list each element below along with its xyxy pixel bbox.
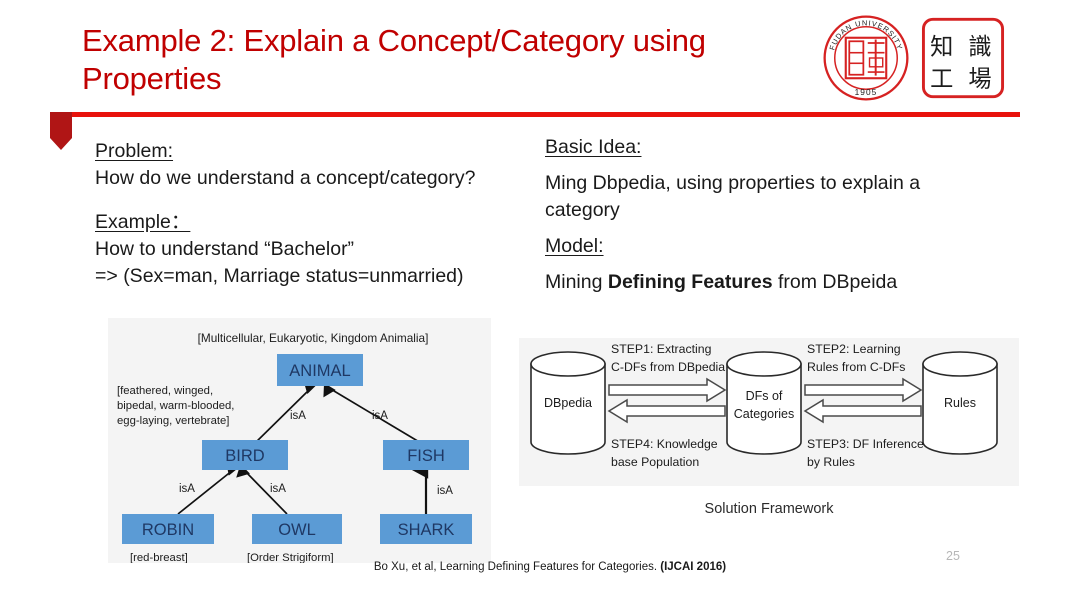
edge-label-bird-animal: isA <box>290 410 306 422</box>
robin-property-label: [red-breast] <box>130 552 188 563</box>
step3-label-line-2: by Rules <box>807 455 855 469</box>
taxonomy-diagram: [Multicellular, Eukaryotic, Kingdom Anim… <box>108 318 491 563</box>
step2-label-line-2: Rules from C-DFs <box>807 360 905 374</box>
taxonomy-node-fish: FISH <box>383 440 469 470</box>
taxonomy-node-robin: ROBIN <box>122 514 214 544</box>
left-text-column: Problem: How do we understand a concept/… <box>95 138 525 290</box>
taxonomy-node-bird: BIRD <box>202 440 288 470</box>
bird-properties-line-2: bipedal, warm-blooded, <box>117 400 234 412</box>
top-properties-label: [Multicellular, Eukaryotic, Kingdom Anim… <box>198 331 429 345</box>
edge-label-fish-animal: isA <box>372 410 388 422</box>
node-label-owl: OWL <box>278 521 316 539</box>
example-heading: Example： <box>95 209 190 236</box>
model-text-post: from DBpeida <box>773 271 898 293</box>
citation-venue-text: (IJCAI 2016) <box>660 561 726 573</box>
svg-text:FUDAN UNIVERSITY: FUDAN UNIVERSITY <box>828 18 905 51</box>
cylinder-rules: Rules <box>923 352 997 454</box>
edge-label-shark-fish: isA <box>437 485 453 497</box>
step4-label-line-2: base Population <box>611 455 699 469</box>
fudan-year-text: 1905 <box>855 87 878 97</box>
step2-label-line-1: STEP2: Learning <box>807 342 901 356</box>
model-text-bold: Defining Features <box>608 271 773 293</box>
red-banner-marker <box>50 112 72 150</box>
citation-normal-text: Bo Xu, et al, Learning Defining Features… <box>374 561 660 573</box>
step1-arrow <box>609 379 725 401</box>
citation-footer: Bo Xu, et al, Learning Defining Features… <box>240 561 860 573</box>
bird-properties-line-1: [feathered, winged, <box>117 385 213 397</box>
basic-idea-text: Ming Dbpedia, using properties to explai… <box>545 170 975 224</box>
node-label-animal: ANIMAL <box>289 362 350 380</box>
model-heading: Model: <box>545 233 604 260</box>
node-label-bird: BIRD <box>225 447 265 465</box>
step3-label-line-1: STEP3: DF Inference <box>807 437 924 451</box>
cylinder-dfs-of-categories: DFs of Categories <box>727 352 801 454</box>
example-line-2: => (Sex=man, Marriage status=unmarried) <box>95 263 525 290</box>
cylinder-dbpedia: DBpedia <box>531 352 605 454</box>
example-line-1: How to understand “Bachelor” <box>95 236 525 263</box>
basic-idea-heading: Basic Idea: <box>545 134 641 161</box>
slide-canvas: Example 2: Explain a Concept/Category us… <box>0 0 1080 608</box>
step4-label-line-1: STEP4: Knowledge <box>611 437 718 451</box>
step1-label-line-1: STEP1: Extracting <box>611 342 712 356</box>
page-title: Example 2: Explain a Concept/Category us… <box>82 22 772 98</box>
fudan-university-seal-logo: FUDAN UNIVERSITY 1905 <box>822 14 910 102</box>
taxonomy-svg: [Multicellular, Eukaryotic, Kingdom Anim… <box>108 318 491 563</box>
cylinder-label-dfs-line-2: Categories <box>734 407 794 421</box>
edge-label-owl-bird: isA <box>270 483 286 495</box>
cylinder-label-dbpedia: DBpedia <box>544 396 592 410</box>
model-text-pre: Mining <box>545 271 608 293</box>
step1-label-line-2: C-DFs from DBpedia <box>611 360 725 374</box>
kw-line2-text: 工 場 <box>930 65 996 91</box>
taxonomy-node-shark: SHARK <box>380 514 472 544</box>
node-label-robin: ROBIN <box>142 521 194 539</box>
node-label-shark: SHARK <box>398 521 455 539</box>
edge-label-robin-bird: isA <box>179 483 195 495</box>
framework-caption: Solution Framework <box>519 501 1019 517</box>
cylinder-label-dfs-line-1: DFs of <box>746 389 783 403</box>
problem-text: How do we understand a concept/category? <box>95 165 525 192</box>
taxonomy-node-owl: OWL <box>252 514 342 544</box>
model-text: Mining Defining Features from DBpeida <box>545 269 975 296</box>
step3-arrow <box>805 400 921 422</box>
taxonomy-node-animal: ANIMAL <box>277 354 363 386</box>
framework-svg: DBpedia DFs of Categories Rules STEP1: E… <box>519 338 1019 486</box>
header-divider-rule <box>50 112 1020 117</box>
knowledge-works-svg: 知 識 工 場 <box>920 16 1006 100</box>
page-number: 25 <box>946 549 960 563</box>
knowledge-works-logo: 知 識 工 場 <box>920 16 1006 100</box>
fudan-seal-svg: FUDAN UNIVERSITY 1905 <box>822 14 910 102</box>
banner-shape-svg <box>50 112 72 150</box>
step2-arrow <box>805 379 921 401</box>
kw-line1-text: 知 識 <box>930 34 996 60</box>
bird-properties-line-3: egg-laying, vertebrate] <box>117 415 229 427</box>
cylinder-label-rules: Rules <box>944 396 976 410</box>
right-text-column: Basic Idea: Ming Dbpedia, using properti… <box>545 134 975 296</box>
solution-framework-diagram: DBpedia DFs of Categories Rules STEP1: E… <box>519 338 1019 486</box>
problem-heading: Problem: <box>95 138 173 165</box>
step4-arrow <box>609 400 725 422</box>
node-label-fish: FISH <box>407 447 445 465</box>
fudan-arc-text: FUDAN UNIVERSITY <box>828 18 905 51</box>
